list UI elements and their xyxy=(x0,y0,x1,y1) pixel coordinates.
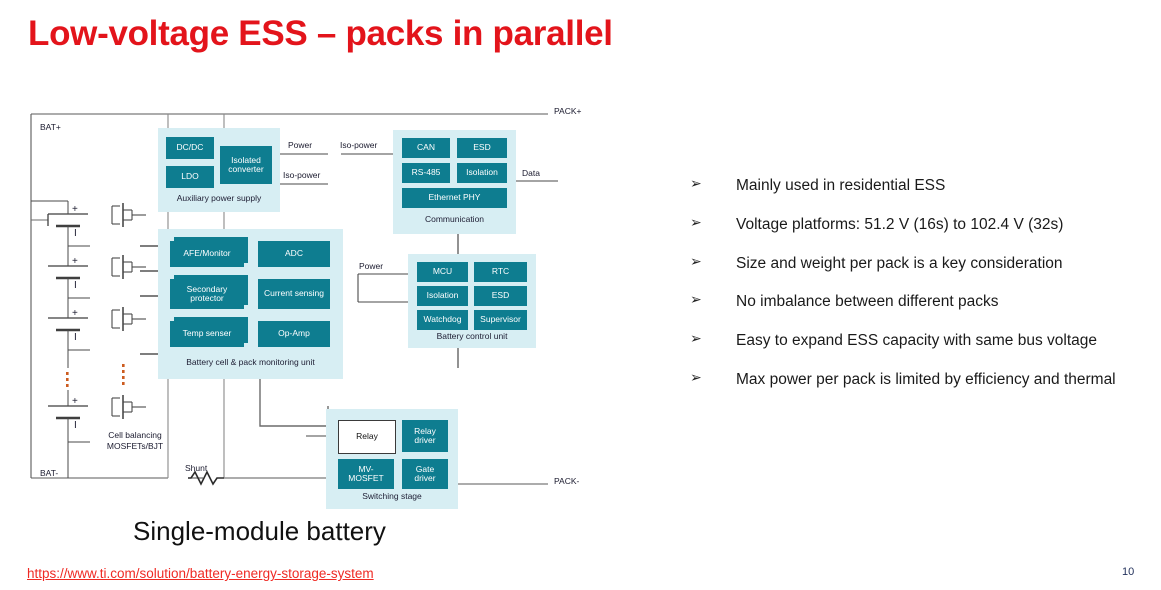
chip-rtc: RTC xyxy=(474,262,527,282)
bullet-text: Voltage platforms: 51.2 V (16s) to 102.4… xyxy=(736,216,1063,233)
chip-esd-comm: ESD xyxy=(457,138,507,158)
bullet-arrow-icon: ➢ xyxy=(690,369,702,387)
bullet-arrow-icon: ➢ xyxy=(690,214,702,232)
label-power-bcu: Power xyxy=(359,261,383,271)
list-item: ➢ No imbalance between different packs xyxy=(690,292,1150,312)
chip-adc: ADC xyxy=(258,241,330,267)
chip-relay: Relay xyxy=(338,420,396,454)
chip-secondary-protector: Secondary protector xyxy=(170,279,244,309)
chip-current-sensing: Current sensing xyxy=(258,279,330,309)
cell-balancing-line-2: MOSFETs/BJT xyxy=(107,441,163,451)
bullet-arrow-icon: ➢ xyxy=(690,253,702,271)
cell-balancing-line-1: Cell balancing xyxy=(108,430,161,440)
label-iso-power-aux: Iso-power xyxy=(283,170,320,180)
bullet-arrow-icon: ➢ xyxy=(690,330,702,348)
chip-isolation-bcu: Isolation xyxy=(417,286,468,306)
block-battery-cell-pack-monitoring-unit: AFE/Monitor ADC Secondary protector Curr… xyxy=(158,229,343,379)
chip-supervisor: Supervisor xyxy=(474,310,527,330)
page-number: 10 xyxy=(1122,566,1134,578)
list-item: ➢ Easy to expand ESS capacity with same … xyxy=(690,331,1150,351)
secondary-protector-line-2: protector xyxy=(190,294,224,303)
source-link[interactable]: https://www.ti.com/solution/battery-ener… xyxy=(27,566,374,581)
chip-mcu: MCU xyxy=(417,262,468,282)
bullet-text: Size and weight per pack is a key consid… xyxy=(736,255,1063,272)
chip-afe-monitor: AFE/Monitor xyxy=(170,241,244,267)
slide-root: Low-voltage ESS – packs in parallel xyxy=(0,0,1161,590)
cell-plus-3: + xyxy=(72,308,78,319)
bullet-list: ➢ Mainly used in residential ESS ➢ Volta… xyxy=(690,176,1150,409)
diagram-caption: Single-module battery xyxy=(133,516,386,547)
bullet-text: Mainly used in residential ESS xyxy=(736,177,945,194)
cell-minus-3: I xyxy=(74,332,77,343)
chip-gate-driver: Gate driver xyxy=(402,459,448,489)
label-shunt: Shunt xyxy=(185,463,207,473)
chip-ldo: LDO xyxy=(166,166,214,188)
cell-minus-4: I xyxy=(74,420,77,431)
label-bat-minus: BAT- xyxy=(40,468,58,478)
cell-plus-2: + xyxy=(72,256,78,267)
chip-can: CAN xyxy=(402,138,450,158)
bullet-text: No imbalance between different packs xyxy=(736,293,999,310)
bullet-arrow-icon: ➢ xyxy=(690,291,702,309)
chip-isolation-comm: Isolation xyxy=(457,163,507,183)
cell-minus-2: I xyxy=(74,280,77,291)
list-item: ➢ Mainly used in residential ESS xyxy=(690,176,1150,196)
label-data: Data xyxy=(522,168,540,178)
bullet-text: Easy to expand ESS capacity with same bu… xyxy=(736,332,1097,349)
cell-minus-1: I xyxy=(74,228,77,239)
bullet-text: Max power per pack is limited by efficie… xyxy=(736,371,1116,388)
caption-auxiliary-power-supply: Auxiliary power supply xyxy=(158,193,280,203)
caption-switching-stage: Switching stage xyxy=(326,491,458,501)
label-pack-minus: PACK- xyxy=(554,476,579,486)
caption-monitoring-unit: Battery cell & pack monitoring unit xyxy=(158,357,343,367)
label-power-aux: Power xyxy=(288,140,312,150)
chip-op-amp: Op-Amp xyxy=(258,321,330,347)
label-bat-plus: BAT+ xyxy=(40,122,61,132)
battery-pack-block-diagram: BAT+ BAT- PACK+ PACK- + I + I + I + I Ce… xyxy=(28,106,648,516)
label-iso-power-comm: Iso-power xyxy=(340,140,377,150)
relay-driver-line-2: driver xyxy=(414,436,435,445)
chip-dcdc: DC/DC xyxy=(166,137,214,159)
chip-temp-senser: Temp senser xyxy=(170,321,244,347)
caption-battery-control-unit: Battery control unit xyxy=(408,331,536,341)
chip-mv-mosfet: MV- MOSFET xyxy=(338,459,394,489)
block-auxiliary-power-supply: DC/DC LDO Isolated converter Auxiliary p… xyxy=(158,128,280,212)
cell-plus-4: + xyxy=(72,396,78,407)
chip-watchdog: Watchdog xyxy=(417,310,468,330)
page-title: Low-voltage ESS – packs in parallel xyxy=(28,14,613,54)
chip-esd-bcu: ESD xyxy=(474,286,527,306)
block-communication: CAN ESD RS-485 Isolation Ethernet PHY Co… xyxy=(393,130,516,234)
bullet-arrow-icon: ➢ xyxy=(690,175,702,193)
mv-mosfet-line-2: MOSFET xyxy=(348,474,383,483)
chip-relay-driver: Relay driver xyxy=(402,420,448,452)
list-item: ➢ Voltage platforms: 51.2 V (16s) to 102… xyxy=(690,215,1150,235)
cell-plus-1: + xyxy=(72,204,78,215)
list-item: ➢ Size and weight per pack is a key cons… xyxy=(690,254,1150,274)
label-pack-plus: PACK+ xyxy=(554,106,581,116)
gate-driver-line-2: driver xyxy=(414,474,435,483)
label-cell-balancing: Cell balancing MOSFETs/BJT xyxy=(80,430,190,451)
isolated-converter-line-2: converter xyxy=(228,165,263,174)
chip-isolated-converter: Isolated converter xyxy=(220,146,272,184)
chip-rs485: RS-485 xyxy=(402,163,450,183)
caption-communication: Communication xyxy=(393,214,516,224)
block-battery-control-unit: MCU RTC Isolation ESD Watchdog Superviso… xyxy=(408,254,536,348)
list-item: ➢ Max power per pack is limited by effic… xyxy=(690,370,1150,390)
block-switching-stage: Relay Relay driver MV- MOSFET Gate drive… xyxy=(326,409,458,509)
chip-ethernet-phy: Ethernet PHY xyxy=(402,188,507,208)
